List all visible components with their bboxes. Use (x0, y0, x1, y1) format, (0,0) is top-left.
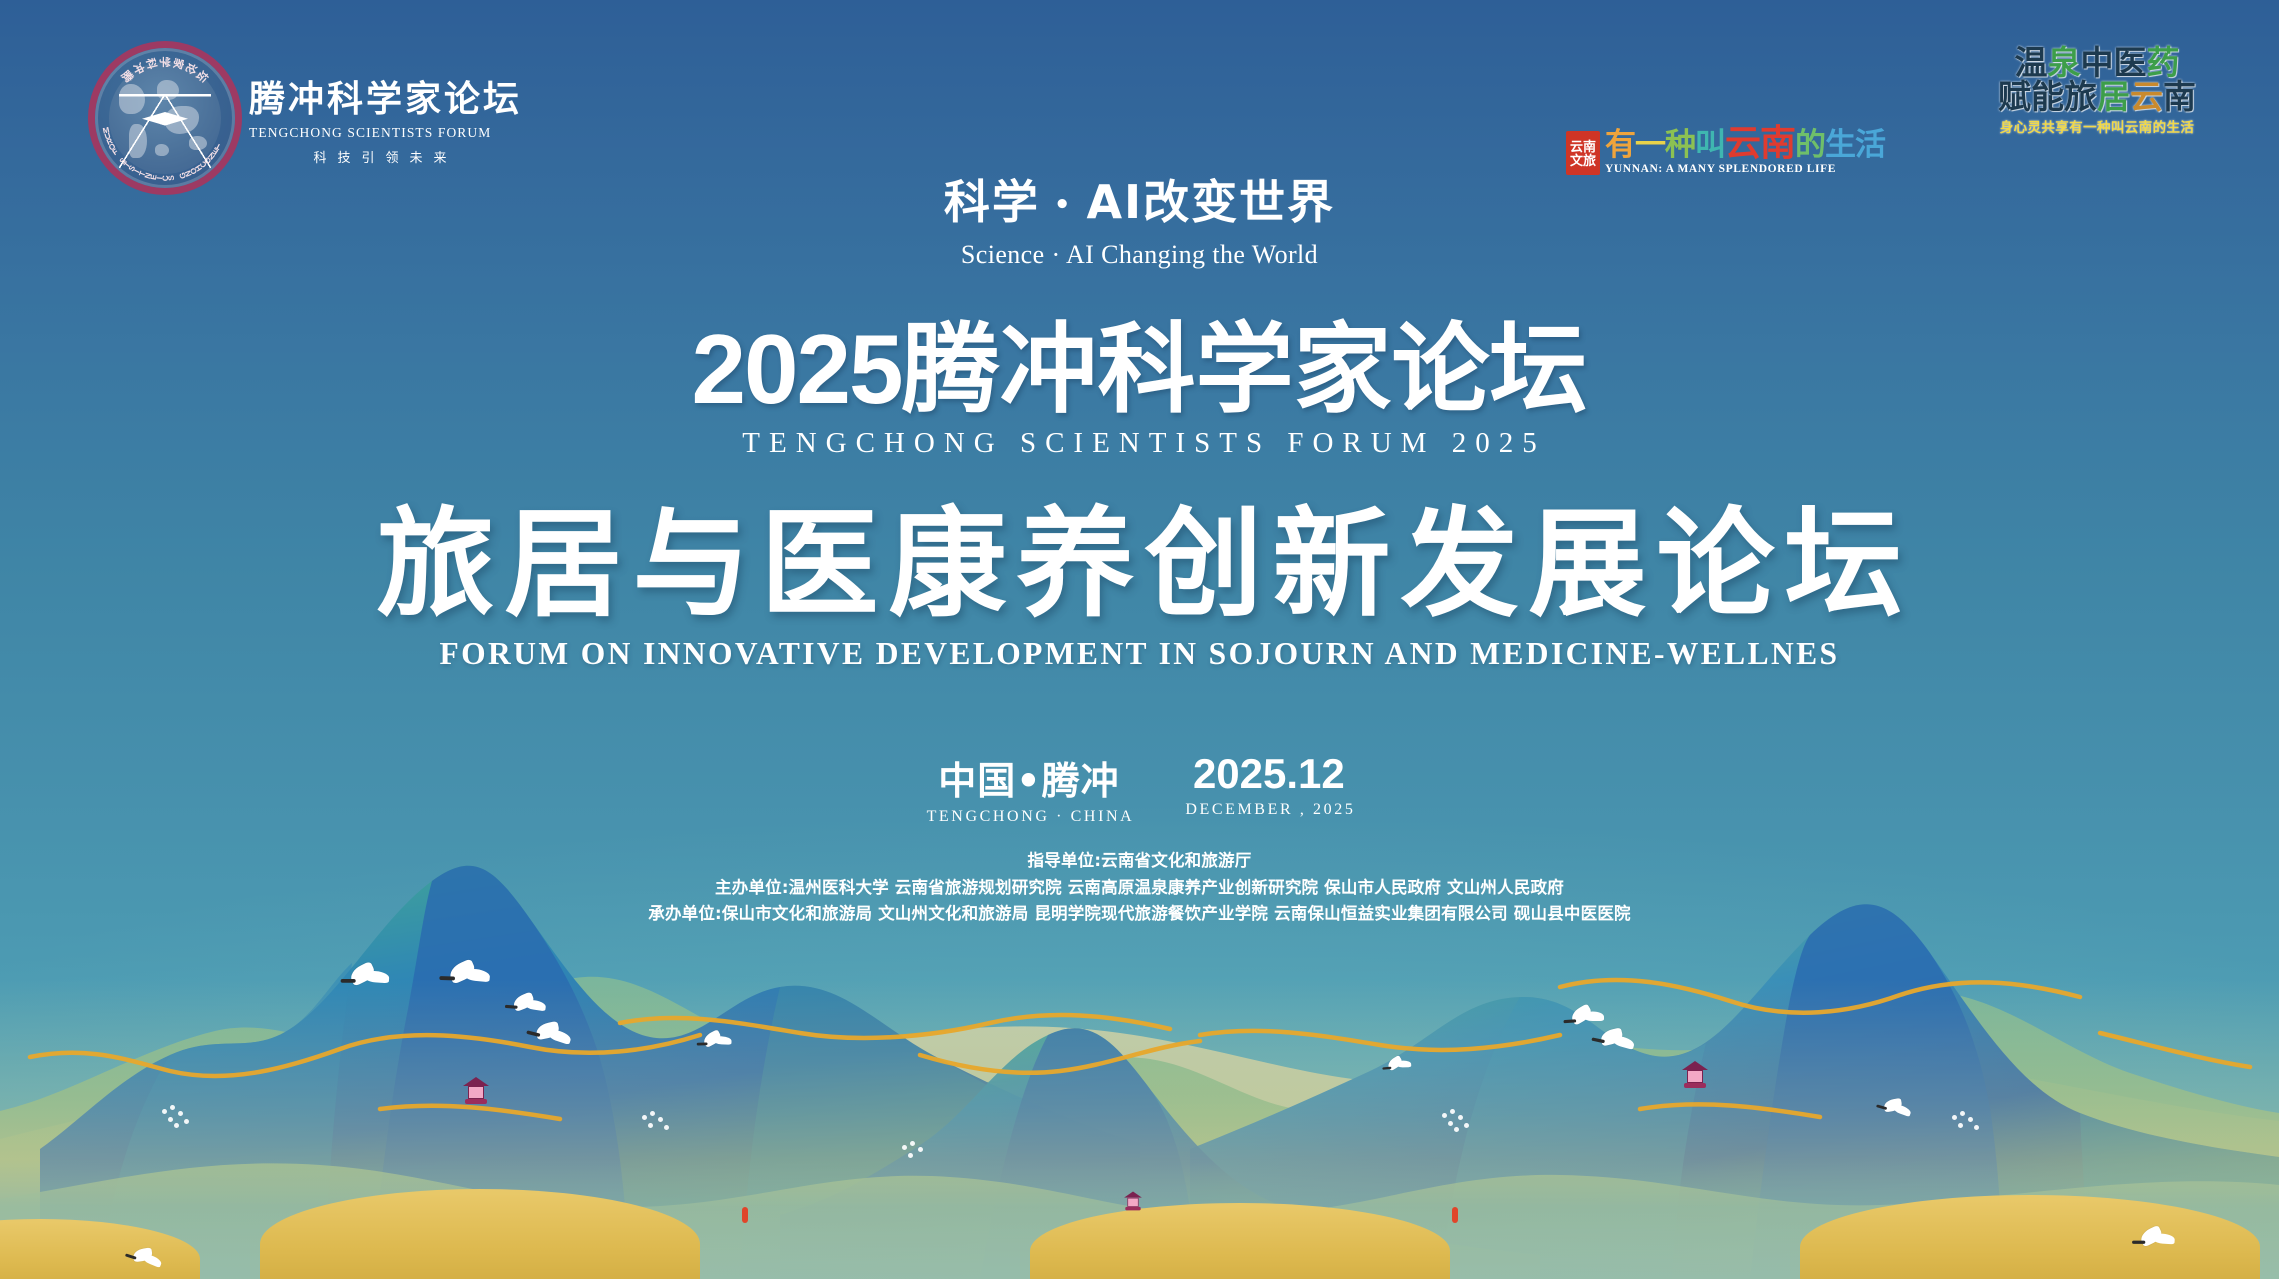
blossom-cluster (1950, 1111, 1986, 1137)
crane-bird (446, 960, 492, 988)
seal-arc-char: M (102, 125, 111, 135)
hotspring-logo-subtitle: 身心灵共享有一种叫云南的生活 (1998, 116, 2196, 136)
forum-name-cn: 腾冲科学家论坛 (902, 313, 1588, 427)
date-cn: 2025.12 (1182, 750, 1355, 798)
logo-char: 赋 (1998, 77, 2031, 116)
logo-char: 叫 (1695, 127, 1725, 163)
date-en: DECEMBER , 2025 (1182, 801, 1355, 819)
pagoda-pavilion (1124, 1192, 1142, 1213)
forum-logo-text: 腾冲科学家论坛 TENGCHONG SCIENTISTS FORUM 科技引领未… (249, 70, 522, 166)
blossom-cluster (160, 1105, 196, 1131)
organizer-unit-line: 承办单位:保山市文化和旅游局 文山州文化和旅游局 昆明学院现代旅游餐饮产业学院 … (0, 901, 2279, 928)
forum-name-en: TENGCHONG SCIENTISTS FORUM 2025 (0, 427, 2279, 460)
slogan-cn: 科学•AI改变世界 (0, 166, 2279, 232)
main-title-cn: 旅居与医康养创新发展论坛 (0, 498, 2279, 630)
logo-char: 有 (1605, 127, 1635, 163)
logo-char: 一 (1635, 127, 1665, 163)
main-title-block: 旅居与医康养创新发展论坛 FORUM ON INNOVATIVE DEVELOP… (0, 498, 2279, 672)
forum-name-block: 2025腾冲科学家论坛 TENGCHONG SCIENTISTS FORUM 2… (0, 318, 2279, 460)
red-lantern (1452, 1207, 1458, 1223)
slogan-cn-part1: 科学 (944, 175, 1040, 229)
logo-char: 生 (1825, 127, 1855, 163)
host-unit-line: 主办单位:温州医科大学 云南省旅游规划研究院 云南高原温泉康养产业创新研究院 保… (0, 875, 2279, 902)
forum-logo-name-cn: 腾冲科学家论坛 (249, 70, 522, 122)
blossom-cluster (1440, 1109, 1476, 1135)
logo-char: 南 (1760, 123, 1795, 164)
logo-char: 南 (2163, 77, 2196, 116)
yunnan-stamp-line1: 云南 (1570, 141, 1596, 154)
slogan-en: Science · AI Changing the World (0, 240, 2279, 270)
pagoda-pavilion (463, 1077, 489, 1107)
hotspring-tcm-logo: 温泉中医药 赋能旅居云南 身心灵共享有一种叫云南的生活 (1998, 46, 2196, 136)
logo-char: 的 (1795, 127, 1825, 163)
logo-char: 云 (2130, 77, 2163, 116)
guiding-unit-line: 指导单位:云南省文化和旅游厅 (0, 848, 2279, 875)
logo-char: 居 (2097, 77, 2130, 116)
logo-char: 种 (1665, 127, 1695, 163)
forum-year: 2025 (691, 314, 901, 424)
forum-name-cn-line: 2025腾冲科学家论坛 (0, 318, 2279, 423)
logo-char: 能 (2031, 77, 2064, 116)
pagoda-pavilion (1682, 1061, 1708, 1091)
slogan-separator-dot: • (1054, 190, 1073, 220)
crane-bird (532, 1022, 573, 1047)
place-en: TENGCHONG · CHINA (924, 808, 1135, 826)
organizer-credits: 指导单位:云南省文化和旅游厅 主办单位:温州医科大学 云南省旅游规划研究院 云南… (0, 848, 2279, 928)
slogan-cn-part2: AI改变世界 (1086, 175, 1335, 229)
place-block: 中国•腾冲 TENGCHONG · CHINA (924, 750, 1135, 826)
logo-char: 云 (1725, 123, 1760, 164)
crane-bird (511, 993, 548, 1014)
poster-canvas: 腾冲科学家论坛 TENGCHONG SCIENTISTS FORUM 腾冲科学家… (0, 0, 2279, 1279)
event-slogan: 科学•AI改变世界 Science · AI Changing the Worl… (0, 166, 2279, 270)
main-title-en: FORUM ON INNOVATIVE DEVELOPMENT IN SOJOU… (0, 636, 2279, 672)
crane-bird (1598, 1029, 1637, 1051)
blossom-cluster (900, 1141, 936, 1167)
yunnan-slogan-cn: 有一种叫云南的生活 (1605, 126, 1885, 162)
forum-logo-name-en: TENGCHONG SCIENTISTS FORUM (249, 125, 522, 141)
logo-char: 活 (1855, 127, 1885, 163)
forum-logo-tagline: 科技引领未来 (249, 147, 522, 166)
logo-char: 旅 (2064, 77, 2097, 116)
blossom-cluster (640, 1111, 676, 1137)
date-block: 2025.12 DECEMBER , 2025 (1182, 750, 1355, 819)
place-cn: 中国•腾冲 (924, 750, 1135, 805)
place-and-date: 中国•腾冲 TENGCHONG · CHINA 2025.12 DECEMBER… (0, 750, 2279, 826)
hotspring-logo-line2: 赋能旅居云南 (1998, 80, 2196, 114)
red-lantern (742, 1207, 748, 1223)
hotspring-logo-line1: 温泉中医药 (1998, 46, 2196, 80)
